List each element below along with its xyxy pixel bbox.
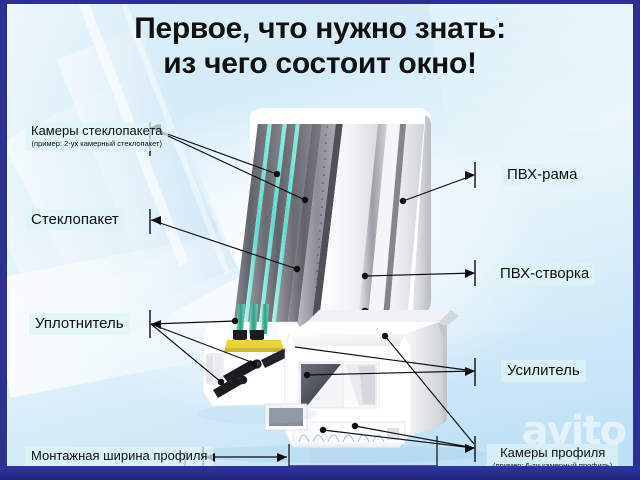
- label-cameras-glass-unit-note: (пример: 2-ух камерный стеклопакет): [31, 139, 162, 148]
- label-pvc-frame-text: ПВХ-рама: [507, 166, 577, 183]
- label-reinforcement: Усилитель: [501, 360, 586, 382]
- slide-canvas: Первое, что нужно знать: из чего состоит…: [7, 4, 633, 466]
- label-cameras-glass-unit: Камеры стеклопакета (пример: 2-ух камерн…: [25, 122, 168, 151]
- label-pvc-sash-text: ПВХ-створка: [500, 265, 589, 282]
- label-mounting-width: Монтажная ширина профиля: [25, 447, 213, 466]
- label-cameras-profile: Камеры профиля (пример: 6-ти камерный пр…: [487, 444, 618, 466]
- label-mounting-width-text: Монтажная ширина профиля: [31, 449, 207, 464]
- label-seal-text: Уплотнитель: [35, 315, 124, 332]
- label-cameras-profile-text: Камеры профиля: [493, 446, 612, 461]
- slide-border-bottom: [0, 466, 640, 480]
- label-glass-unit-text: Стеклопакет: [31, 211, 119, 228]
- label-cameras-profile-note: (пример: 6-ти камерный профиль): [493, 461, 612, 466]
- label-glass-unit: Стеклопакет: [25, 209, 125, 231]
- label-reinforcement-text: Усилитель: [507, 362, 580, 379]
- slide-border-left: [0, 0, 7, 480]
- slide-root: Первое, что нужно знать: из чего состоит…: [0, 0, 640, 480]
- label-cameras-glass-unit-text: Камеры стеклопакета: [31, 124, 162, 139]
- label-pvc-sash: ПВХ-створка: [494, 263, 595, 285]
- label-pvc-frame: ПВХ-рама: [501, 164, 583, 186]
- label-seal: Уплотнитель: [29, 313, 130, 335]
- page-title-line-2: из чего состоит окно!: [7, 47, 633, 82]
- slide-border-right: [633, 0, 640, 480]
- page-title-line-1: Первое, что нужно знать:: [134, 12, 506, 45]
- page-title: Первое, что нужно знать: из чего состоит…: [7, 12, 633, 82]
